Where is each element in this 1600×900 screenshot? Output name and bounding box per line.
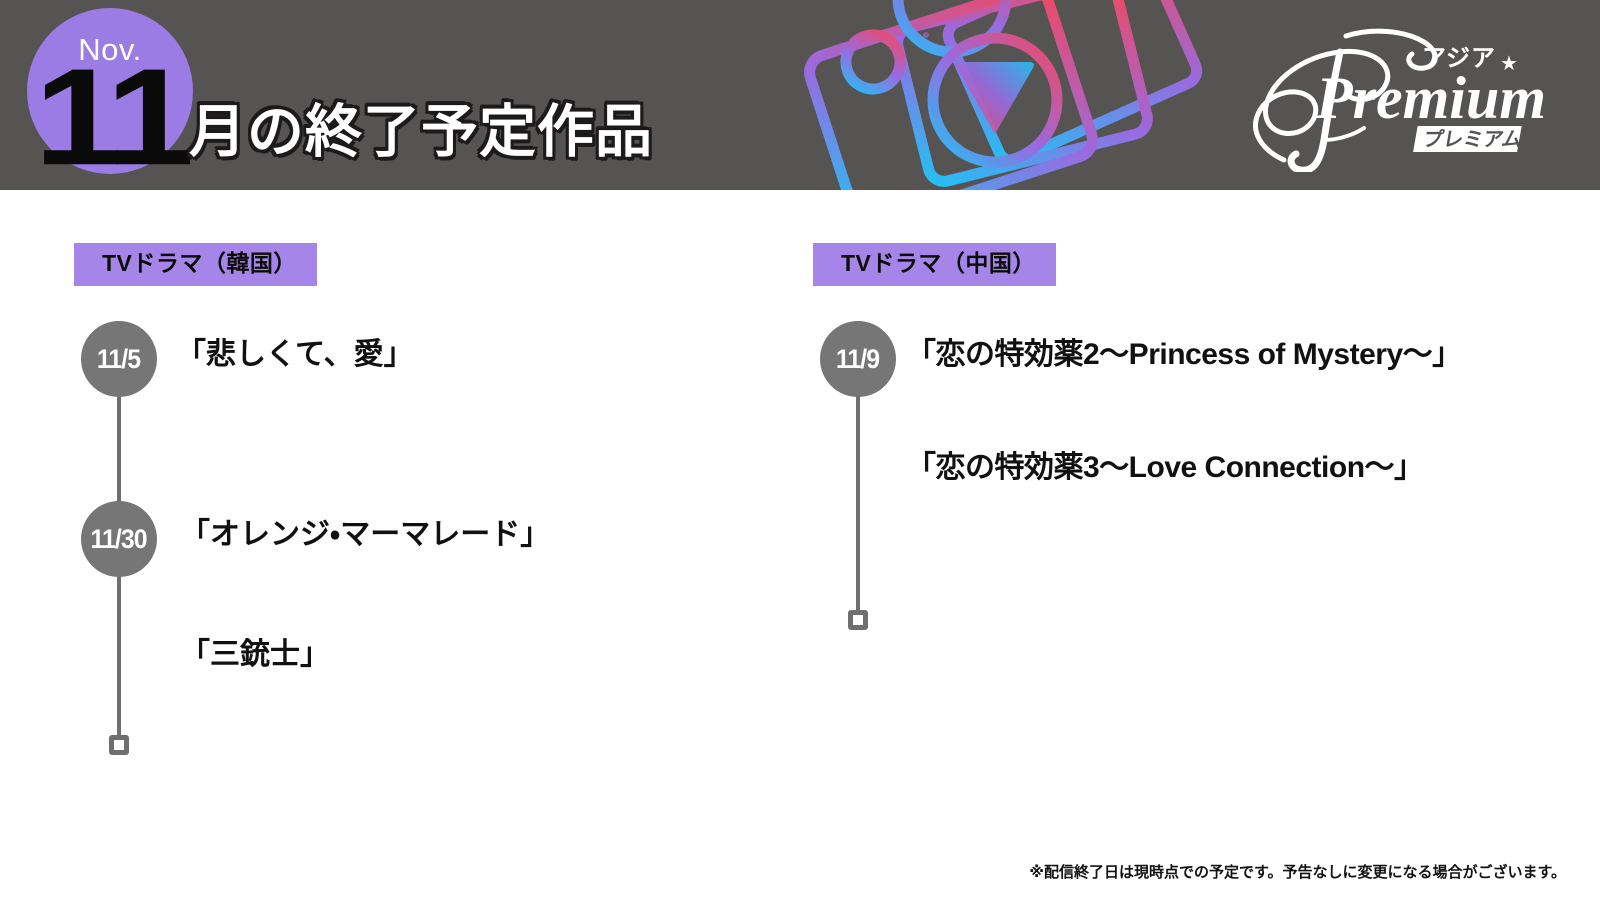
month-number: 11 bbox=[9, 48, 212, 186]
brand-logo-asia-premium: Premium アジア ★ プレミアム bbox=[1188, 22, 1548, 172]
brand-logo-svg: Premium アジア ★ プレミアム bbox=[1188, 22, 1548, 172]
decorative-media-graphic bbox=[790, 0, 1230, 190]
footer-disclaimer: ※配信終了日は現時点での予定です。予告なしに変更になる場合がございます。 bbox=[1029, 861, 1566, 882]
category-badge-korean: TVドラマ（韓国） bbox=[74, 243, 317, 286]
month-badge: Nov. 11 bbox=[27, 8, 193, 174]
play-triangle-icon bbox=[956, 62, 1034, 134]
decorative-graphic-svg bbox=[790, 0, 1230, 190]
date-bubble-label: 11/9 bbox=[836, 344, 879, 375]
list-item-title: 「恋の特効薬3〜Love Connection〜」 bbox=[906, 453, 1424, 483]
date-bubble-11-5: 11/5 bbox=[81, 321, 157, 397]
date-bubble-label: 11/5 bbox=[97, 344, 140, 375]
page-title: 月の終了予定作品 bbox=[189, 104, 653, 161]
logo-star-icon: ★ bbox=[1500, 51, 1518, 75]
list-item-title: 「オレンジ・マーマレード」 bbox=[180, 520, 550, 550]
timeline-end-cap-left bbox=[109, 735, 129, 755]
date-bubble-11-30: 11/30 bbox=[81, 501, 157, 577]
list-item-title: 「三銃士」 bbox=[180, 640, 330, 670]
logo-kana-box-text: プレミアム bbox=[1421, 128, 1524, 151]
header-bar: Nov. 11 月の終了予定作品 Premium アジア ★ プレミアム bbox=[0, 0, 1600, 190]
list-item-title: 「恋の特効薬2〜Princess of Mystery〜」 bbox=[906, 340, 1462, 370]
timeline-end-cap-right bbox=[848, 610, 868, 630]
date-bubble-label: 11/30 bbox=[91, 524, 147, 555]
list-item-title: 「悲しくて、愛」 bbox=[176, 340, 414, 370]
category-badge-chinese: TVドラマ（中国） bbox=[813, 243, 1056, 286]
logo-kana-top: アジア bbox=[1422, 45, 1496, 72]
date-bubble-11-9: 11/9 bbox=[820, 321, 896, 397]
